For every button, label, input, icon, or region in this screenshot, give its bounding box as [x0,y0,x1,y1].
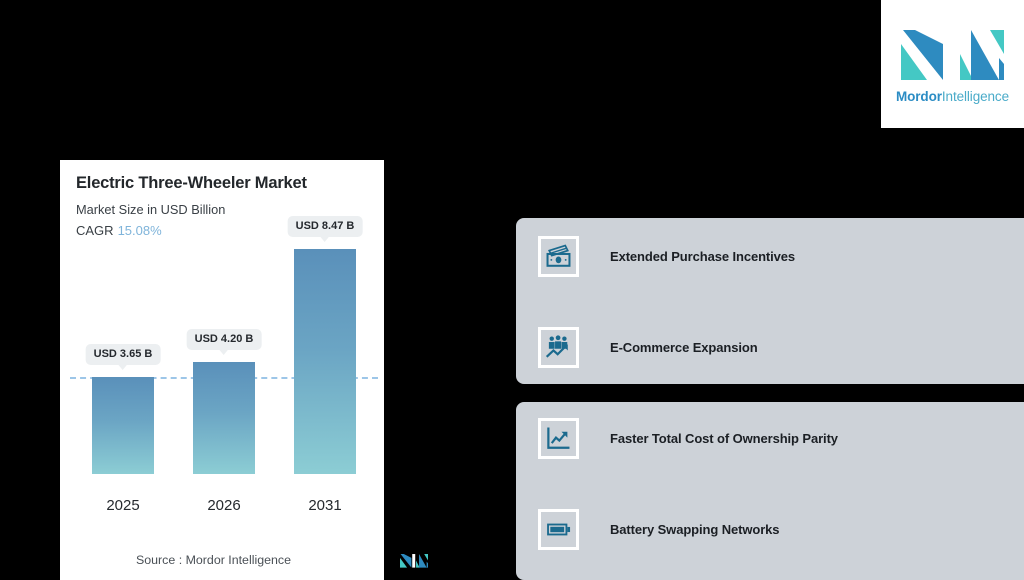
banknote-icon [538,236,579,277]
feature-row[interactable]: Faster Total Cost of Ownership Parity [538,418,838,459]
bar-chart-plot-area: USD 3.65 B 2025 USD 4.20 B 2026 USD 8.47… [60,232,384,522]
bar-category-label: 2025 [106,497,139,514]
battery-icon [538,509,579,550]
feature-label: Battery Swapping Networks [610,522,779,537]
feature-row[interactable]: Battery Swapping Networks [538,509,779,550]
drivers-panel: Extended Purchase Incentives E-Commerce … [516,218,1024,384]
brand-name-light: Intelligence [942,89,1009,104]
people-growth-arrow-icon [538,327,579,368]
feature-row[interactable]: E-Commerce Expansion [538,327,758,368]
feature-label: Faster Total Cost of Ownership Parity [610,431,838,446]
bar[interactable] [92,377,154,474]
bar[interactable] [193,362,255,474]
bar-value-badge: USD 3.65 B [86,344,161,365]
bar-value-badge: USD 8.47 B [288,216,363,237]
bar-value-badge: USD 4.20 B [187,329,262,350]
chart-title: Electric Three-Wheeler Market [76,174,368,194]
feature-label: E-Commerce Expansion [610,340,758,355]
brand-name-bold: Mordor [896,89,942,104]
mordor-mi-monogram-icon [901,24,1004,80]
bar-series: USD 3.65 B 2025 USD 4.20 B 2026 USD 8.47… [60,232,384,522]
bar[interactable] [294,249,356,474]
trends-panel: Faster Total Cost of Ownership Parity Ba… [516,402,1024,580]
feature-label: Extended Purchase Incentives [610,249,795,264]
bar-category-label: 2026 [207,497,240,514]
source-row: Source : Mordor Intelligence [136,552,428,568]
feature-row[interactable]: Extended Purchase Incentives [538,236,795,277]
chart-subtitle: Market Size in USD Billion [76,202,368,217]
source-label: Source : Mordor Intelligence [136,553,291,567]
brand-logo-block: MordorIntelligence [881,0,1024,128]
brand-wordmark: MordorIntelligence [896,89,1009,104]
bar-category-label: 2031 [308,497,341,514]
line-chart-arrow-icon [538,418,579,459]
source-mordor-mi-monogram-icon [400,552,428,568]
